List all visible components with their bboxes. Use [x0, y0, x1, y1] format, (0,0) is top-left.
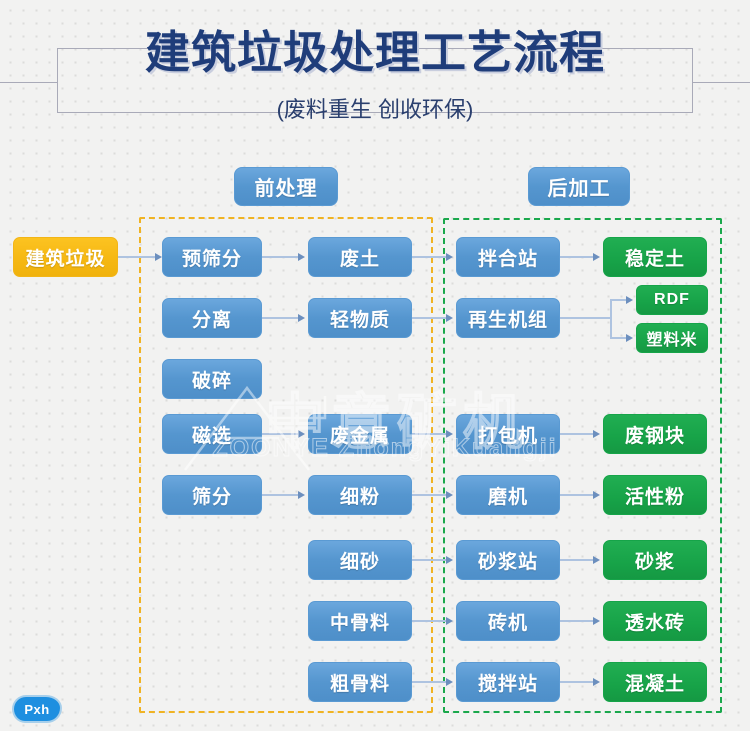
title-frame-rule-left — [0, 82, 58, 83]
node-scrap-metal[interactable]: 废金属 — [308, 414, 412, 454]
arrow-mortar-station-to-mortar — [593, 556, 600, 564]
connector-recycling-unit-split — [610, 300, 612, 338]
node-grinding-mill[interactable]: 磨机 — [456, 475, 560, 515]
arrow-recycling-unit-to-plastic-pellets — [626, 334, 633, 342]
arrow-grinding-mill-to-active-powder — [593, 491, 600, 499]
node-scrap-steel-block[interactable]: 废钢块 — [603, 414, 707, 454]
node-magnetic-separation[interactable]: 磁选 — [162, 414, 262, 454]
arrow-fine-powder-to-grinding-mill — [446, 491, 453, 499]
node-medium-aggregate[interactable]: 中骨料 — [308, 601, 412, 641]
connector-medium-aggregate-to-brick-machine — [412, 620, 448, 622]
zone-header-pre[interactable]: 前处理 — [234, 167, 338, 206]
connector-prescreen-to-waste-soil — [262, 256, 300, 258]
connector-brick-machine-to-permeable-brick — [560, 620, 595, 622]
arrow-separation-to-light-material — [298, 314, 305, 322]
connector-fine-sand-to-mortar-station — [412, 559, 448, 561]
arrow-concrete-station-to-concrete — [593, 678, 600, 686]
connector-magnetic-to-scrap-metal — [262, 433, 300, 435]
node-waste-soil[interactable]: 废土 — [308, 237, 412, 277]
connector-recycling-unit-trunk — [560, 317, 612, 319]
flowchart-canvas: 建筑垃圾处理工艺流程 (废料重生 创收环保) 前处理 后加工 建筑垃圾 预筛分 … — [0, 0, 750, 731]
node-baler[interactable]: 打包机 — [456, 414, 560, 454]
node-stabilized-soil[interactable]: 稳定土 — [603, 237, 707, 277]
node-fine-powder[interactable]: 细粉 — [308, 475, 412, 515]
arrow-baler-to-scrap-steel-block — [593, 430, 600, 438]
arrow-waste-soil-to-mixing-station — [446, 253, 453, 261]
connector-baler-to-scrap-steel-block — [560, 433, 595, 435]
arrow-input-to-prescreen — [155, 253, 162, 261]
node-mixing-station[interactable]: 拌合站 — [456, 237, 560, 277]
node-screening[interactable]: 筛分 — [162, 475, 262, 515]
arrow-fine-sand-to-mortar-station — [446, 556, 453, 564]
node-concrete[interactable]: 混凝土 — [603, 662, 707, 702]
header: 建筑垃圾处理工艺流程 (废料重生 创收环保) — [0, 0, 750, 140]
arrow-magnetic-to-scrap-metal — [298, 430, 305, 438]
arrow-light-material-to-recycling-unit — [446, 314, 453, 322]
page-subtitle: (废料重生 创收环保) — [0, 92, 750, 124]
connector-coarse-aggregate-to-concrete-station — [412, 681, 448, 683]
arrow-scrap-metal-to-baler — [446, 430, 453, 438]
connector-concrete-station-to-concrete — [560, 681, 595, 683]
arrow-prescreen-to-waste-soil — [298, 253, 305, 261]
node-permeable-brick[interactable]: 透水砖 — [603, 601, 707, 641]
node-mortar-station[interactable]: 砂浆站 — [456, 540, 560, 580]
page-title: 建筑垃圾处理工艺流程 — [0, 16, 750, 81]
node-input-construction-waste[interactable]: 建筑垃圾 — [13, 237, 118, 277]
connector-light-material-to-recycling-unit — [412, 317, 448, 319]
connector-input-to-prescreen — [118, 256, 158, 258]
node-prescreening[interactable]: 预筛分 — [162, 237, 262, 277]
arrow-brick-machine-to-permeable-brick — [593, 617, 600, 625]
node-mortar[interactable]: 砂浆 — [603, 540, 707, 580]
connector-grinding-mill-to-active-powder — [560, 494, 595, 496]
connector-mixing-station-to-stabilized-soil — [560, 256, 595, 258]
node-fine-sand[interactable]: 细砂 — [308, 540, 412, 580]
arrow-medium-aggregate-to-brick-machine — [446, 617, 453, 625]
arrow-screening-to-fine-powder — [298, 491, 305, 499]
node-rdf[interactable]: RDF — [636, 285, 708, 315]
arrow-recycling-unit-to-rdf — [626, 296, 633, 304]
arrow-coarse-aggregate-to-concrete-station — [446, 678, 453, 686]
node-separation[interactable]: 分离 — [162, 298, 262, 338]
connector-scrap-metal-to-baler — [412, 433, 448, 435]
node-light-material[interactable]: 轻物质 — [308, 298, 412, 338]
pxh-badge: Pxh — [14, 697, 60, 721]
node-brick-machine[interactable]: 砖机 — [456, 601, 560, 641]
node-plastic-pellets[interactable]: 塑料米 — [636, 323, 708, 353]
title-frame-rule-right — [692, 82, 750, 83]
node-crushing[interactable]: 破碎 — [162, 359, 262, 399]
node-coarse-aggregate[interactable]: 粗骨料 — [308, 662, 412, 702]
connector-fine-powder-to-grinding-mill — [412, 494, 448, 496]
zone-header-post[interactable]: 后加工 — [528, 167, 630, 206]
node-recycling-unit[interactable]: 再生机组 — [456, 298, 560, 338]
connector-separation-to-light-material — [262, 317, 300, 319]
node-active-powder[interactable]: 活性粉 — [603, 475, 707, 515]
connector-screening-to-fine-powder — [262, 494, 300, 496]
node-concrete-mixing-station[interactable]: 搅拌站 — [456, 662, 560, 702]
arrow-mixing-station-to-stabilized-soil — [593, 253, 600, 261]
connector-waste-soil-to-mixing-station — [412, 256, 448, 258]
connector-mortar-station-to-mortar — [560, 559, 595, 561]
